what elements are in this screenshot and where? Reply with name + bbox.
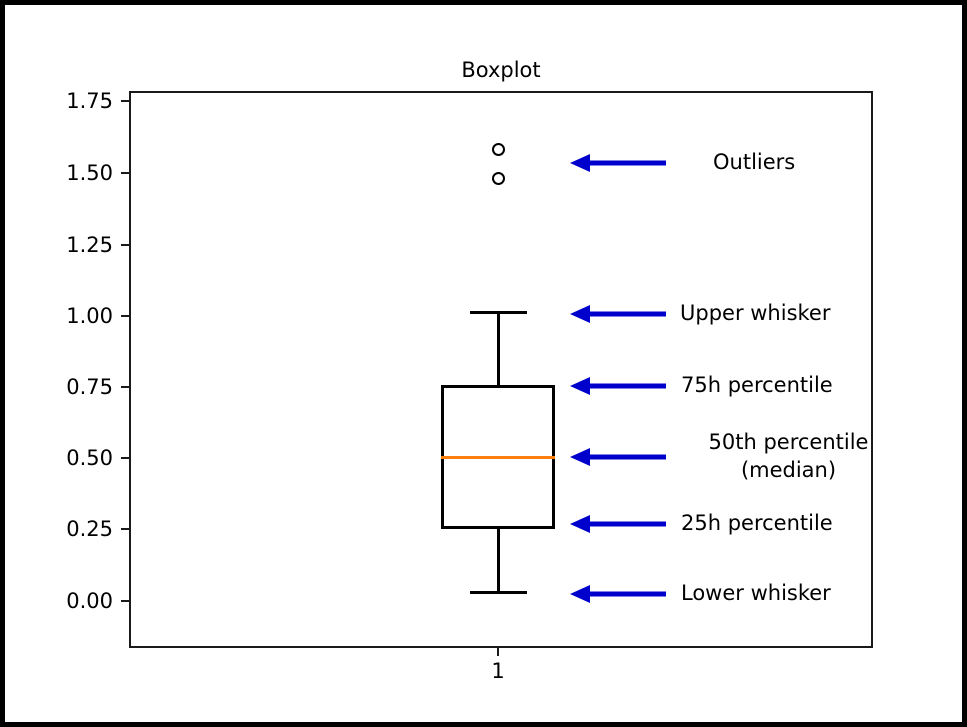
y-tick-label: 1.50 [5, 160, 113, 186]
y-tick-label: 0.25 [5, 516, 113, 542]
y-tick-mark [121, 457, 129, 459]
outlier-point [492, 143, 505, 156]
chart-title: Boxplot [129, 57, 873, 83]
x-tick-mark [497, 648, 499, 656]
annotation-label: 75h percentile [653, 371, 967, 399]
y-tick-label: 1.00 [5, 303, 113, 329]
annotation-p75: 75h percentile [568, 373, 868, 399]
y-tick-mark [121, 100, 129, 102]
upper-whisker-stem [497, 311, 500, 387]
annotation-label: 50th percentile [681, 428, 896, 456]
y-tick-mark [121, 528, 129, 530]
y-tick-mark [121, 386, 129, 388]
y-tick-mark [121, 600, 129, 602]
median-line [441, 456, 555, 459]
figure-canvas: Boxplot 1.75 1.50 1.25 1.00 0.75 0.50 [0, 0, 967, 727]
y-tick-label: 0.00 [5, 588, 113, 614]
y-tick-label: 0.75 [5, 374, 113, 400]
annotation-outliers: Outliers [568, 150, 868, 176]
y-tick-label: 1.75 [5, 88, 113, 114]
arrow-left-icon [568, 444, 678, 470]
annotation-label: 25h percentile [653, 509, 967, 537]
lower-whisker-cap [470, 591, 527, 594]
lower-whisker-stem [497, 527, 500, 593]
outlier-point [492, 172, 505, 185]
annotation-label-line2: (median) [681, 456, 896, 484]
annotation-lower-whisker: Lower whisker [568, 581, 868, 607]
annotation-median: 50th percentile (median) [568, 444, 868, 500]
y-tick-label: 0.50 [5, 445, 113, 471]
annotation-upper-whisker: Upper whisker [568, 301, 868, 327]
annotation-label: Lower whisker [653, 579, 967, 607]
annotation-label: Upper whisker [653, 299, 967, 327]
x-tick-label: 1 [438, 658, 558, 684]
y-tick-label: 1.25 [5, 232, 113, 258]
annotation-p25: 25h percentile [568, 511, 868, 537]
annotation-label: Outliers [653, 148, 967, 176]
y-tick-mark [121, 315, 129, 317]
y-tick-mark [121, 172, 129, 174]
y-tick-mark [121, 244, 129, 246]
